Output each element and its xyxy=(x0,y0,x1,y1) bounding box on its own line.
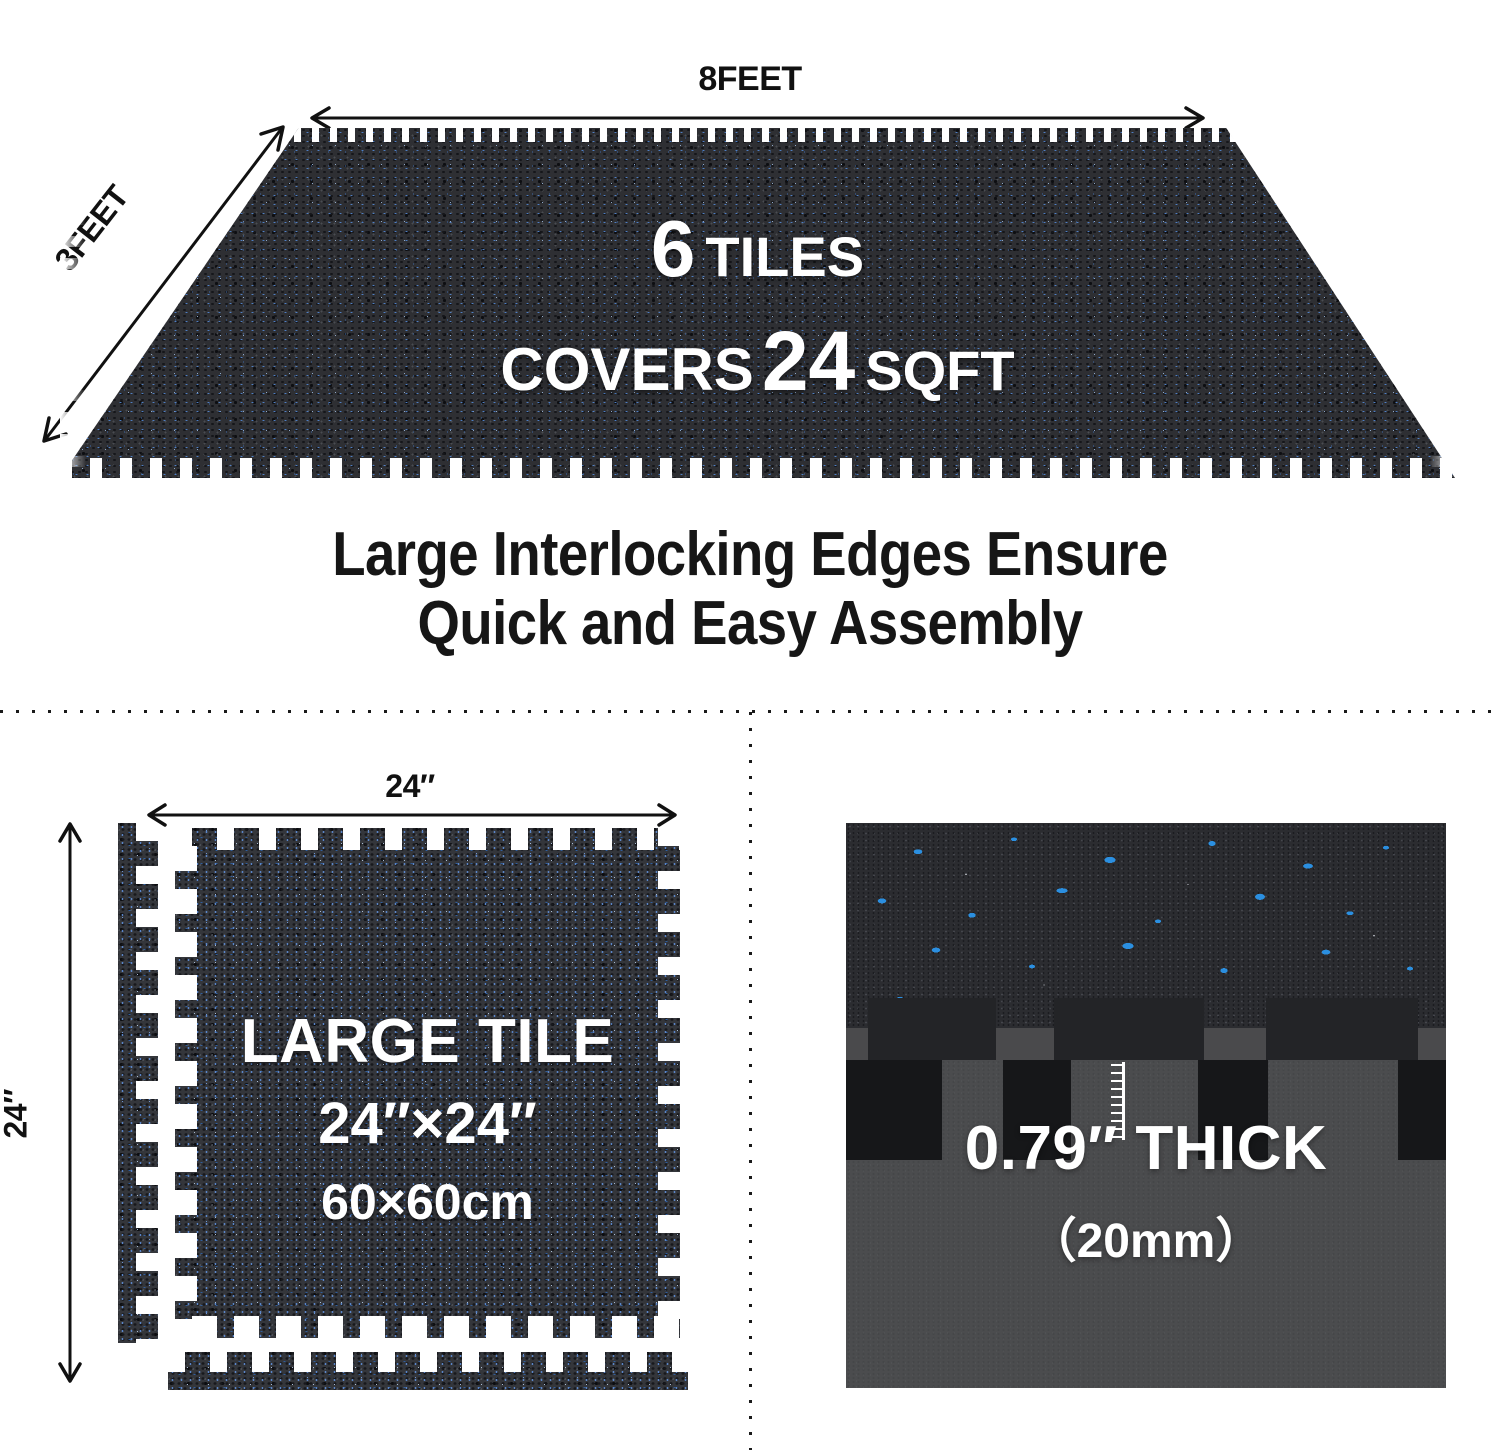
tile-size-metric: 60×60cm xyxy=(175,1173,680,1231)
mat-right-teeth xyxy=(1429,128,1455,478)
mat-top-teeth xyxy=(60,128,1455,142)
ruler-tick xyxy=(1111,1088,1124,1090)
tile-top-teeth xyxy=(175,828,680,850)
thickness-inches-label: 0.79″ THICK xyxy=(846,1113,1446,1184)
ruler-tick xyxy=(1111,1128,1124,1130)
ruler-tick xyxy=(1111,1120,1124,1122)
coverage-line: COVERS24SQFT xyxy=(60,313,1455,410)
tile-edge-strip-bottom xyxy=(168,1352,688,1390)
assembled-mat-image: 6TILES COVERS24SQFT xyxy=(60,128,1455,478)
ruler-tick xyxy=(1111,1136,1124,1138)
tile-bottom-teeth xyxy=(175,1316,680,1338)
tile-title: LARGE TILE xyxy=(175,1006,680,1077)
thickness-metric-label: （20mm） xyxy=(846,1201,1446,1271)
coverage-unit: SQFT xyxy=(855,339,1014,402)
mat-surface xyxy=(60,128,1455,478)
mat-bottom-teeth xyxy=(60,458,1455,478)
tiles-count-number: 6 xyxy=(651,204,696,293)
tile-height-label: 24″ xyxy=(0,1089,35,1138)
tile-size-inches: 24″×24″ xyxy=(175,1090,680,1157)
edge-strip-left-teeth xyxy=(136,823,158,1343)
coverage-value: 24 xyxy=(754,314,855,408)
edge-strip-bottom-teeth xyxy=(168,1352,688,1372)
tiles-count-unit: TILES xyxy=(695,225,864,288)
ruler-tick xyxy=(1111,1096,1124,1098)
coverage-panel: 8FEET 3FEET 6TILES xyxy=(0,0,1500,710)
dovetail-tab xyxy=(1054,998,1204,1060)
tiles-count-line: 6TILES xyxy=(60,203,1455,295)
tile-left-teeth xyxy=(175,828,197,1338)
ruler-tick xyxy=(1111,1104,1124,1106)
headline-line-2: Quick and Easy Assembly xyxy=(90,589,1410,658)
tile-right-teeth xyxy=(658,828,680,1338)
mat-left-teeth xyxy=(60,128,86,478)
dovetail-tab xyxy=(1266,998,1418,1060)
thickness-photo: 0.79″ THICK （20mm） xyxy=(846,823,1446,1388)
coverage-word: COVERS xyxy=(500,336,753,403)
ruler-tick xyxy=(1111,1112,1124,1114)
headline: Large Interlocking Edges Ensure Quick an… xyxy=(90,520,1410,659)
ruler-tick xyxy=(1111,1064,1124,1066)
ruler-tick xyxy=(1111,1080,1124,1082)
dovetail-tab xyxy=(868,998,996,1060)
tile-edge-strip-left xyxy=(118,823,158,1343)
headline-line-1: Large Interlocking Edges Ensure xyxy=(90,520,1410,589)
product-infographic: 8FEET 3FEET 6TILES xyxy=(0,0,1500,1450)
ruler-tick xyxy=(1111,1072,1124,1074)
vertical-divider xyxy=(749,712,752,1450)
single-tile-image: LARGE TILE 24″×24″ 60×60cm xyxy=(175,828,680,1338)
